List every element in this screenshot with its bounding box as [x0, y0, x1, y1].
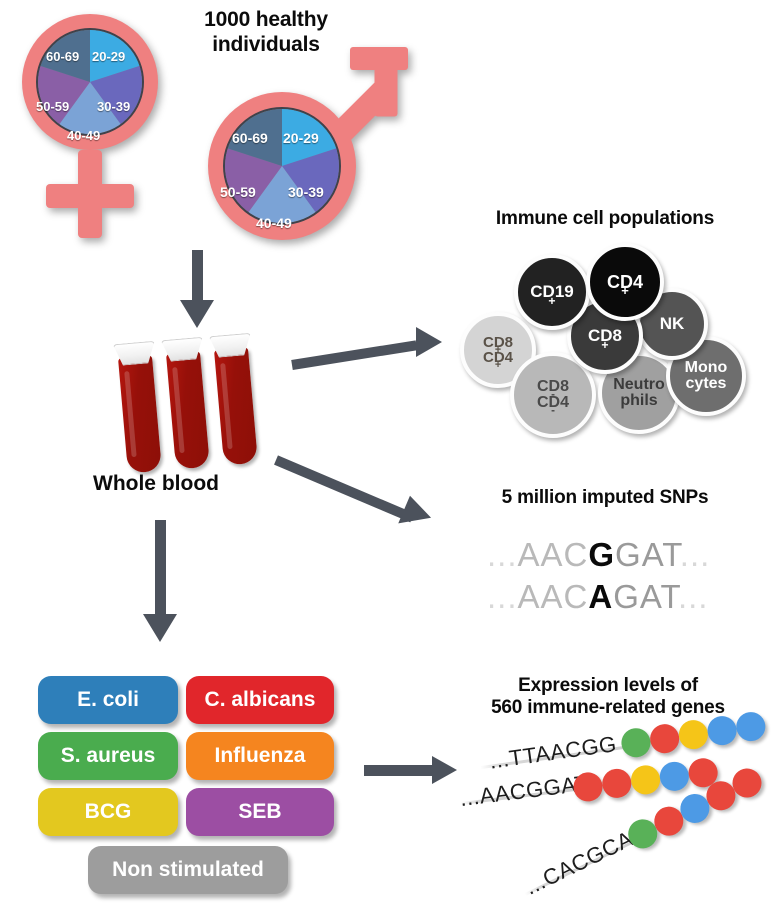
immune-cell-cd4pos: CD4+ [586, 243, 664, 321]
male-pie-label-40-49: 40-49 [256, 215, 292, 231]
bead-red [648, 722, 681, 755]
stimulus-influenza[interactable]: Influenza [186, 732, 334, 780]
section-title-immune: Immune cell populations [440, 208, 770, 230]
stimulus-non-stimulated[interactable]: Non stimulated [88, 846, 288, 894]
snp-sequence-row-2: ...AACAGAT... [487, 578, 708, 616]
section-title-expression: Expression levels of 560 immune-related … [448, 675, 768, 720]
stimulus-seb[interactable]: SEB [186, 788, 334, 836]
bead-green [620, 726, 653, 759]
male-pie-label-50-59: 50-59 [220, 184, 256, 200]
stimulus-bcg[interactable]: BCG [38, 788, 178, 836]
cell-label-line2: phils [613, 393, 665, 409]
snp-left: AAC [518, 578, 589, 615]
female-pie-label-30-39: 30-39 [97, 99, 130, 114]
stimulus-label: Influenza [214, 744, 305, 768]
male-symbol: 60-69 20-29 50-59 30-39 40-49 [198, 42, 408, 242]
snp-left: AAC [518, 536, 589, 573]
stimulus-s-aureus[interactable]: S. aureus [38, 732, 178, 780]
snp-suffix: ... [680, 536, 711, 573]
snp-prefix: ... [487, 578, 518, 615]
blood-tubes [112, 340, 262, 490]
stimulus-label: E. coli [77, 688, 139, 712]
whole-blood-label: Whole blood [93, 472, 219, 496]
snp-suffix: ... [678, 578, 709, 615]
stimulus-label: C. albicans [205, 688, 316, 712]
female-pie-label-40-49: 40-49 [67, 128, 100, 143]
stimulus-c-albicans[interactable]: C. albicans [186, 676, 334, 724]
male-age-pie [223, 107, 341, 225]
snp-sequence-row-1: ...AACGGAT... [487, 536, 710, 574]
male-arrow-head [350, 42, 412, 104]
stimulus-label: SEB [238, 800, 281, 824]
cell-label-line1: Neutro [613, 377, 665, 393]
female-pie-label-20-29: 20-29 [92, 49, 125, 64]
immune-cell-cd19pos: CD19+ [514, 254, 590, 330]
stimulus-label: Non stimulated [112, 858, 264, 882]
snp-variant: G [588, 536, 615, 573]
male-pie-label-20-29: 20-29 [283, 130, 319, 146]
female-pie-label-50-59: 50-59 [36, 99, 69, 114]
figure-canvas: 1000 healthy individuals 60-69 20-29 50-… [0, 0, 771, 922]
female-stem-cross [46, 184, 134, 208]
expression-title-line1: Expression levels of [448, 675, 768, 697]
cell-label-nk: NK [660, 315, 685, 332]
male-pie-label-30-39: 30-39 [288, 184, 324, 200]
cell-label-line2: cytes [685, 376, 728, 392]
section-title-snps: 5 million imputed SNPs [440, 487, 770, 509]
female-age-pie [36, 28, 144, 136]
snp-right: GAT [613, 578, 678, 615]
stimulus-label: BCG [85, 800, 132, 824]
immune-cell-cluster: CD8+ CD4+ CD8- CD4- Neutro phils Mono cy… [440, 240, 771, 420]
stimulus-e-coli[interactable]: E. coli [38, 676, 178, 724]
stimulus-label: S. aureus [61, 744, 156, 768]
female-symbol: 60-69 20-29 50-59 30-39 40-49 [8, 8, 198, 248]
strand-sequence-text: ...TTAACGG [488, 731, 618, 775]
cell-label-line1: Mono [685, 360, 728, 376]
male-pie-label-60-69: 60-69 [232, 130, 268, 146]
bead-yellow [677, 718, 710, 751]
snp-prefix: ... [487, 536, 518, 573]
snp-right: GAT [615, 536, 680, 573]
snp-variant: A [588, 578, 613, 615]
female-pie-label-60-69: 60-69 [46, 49, 79, 64]
